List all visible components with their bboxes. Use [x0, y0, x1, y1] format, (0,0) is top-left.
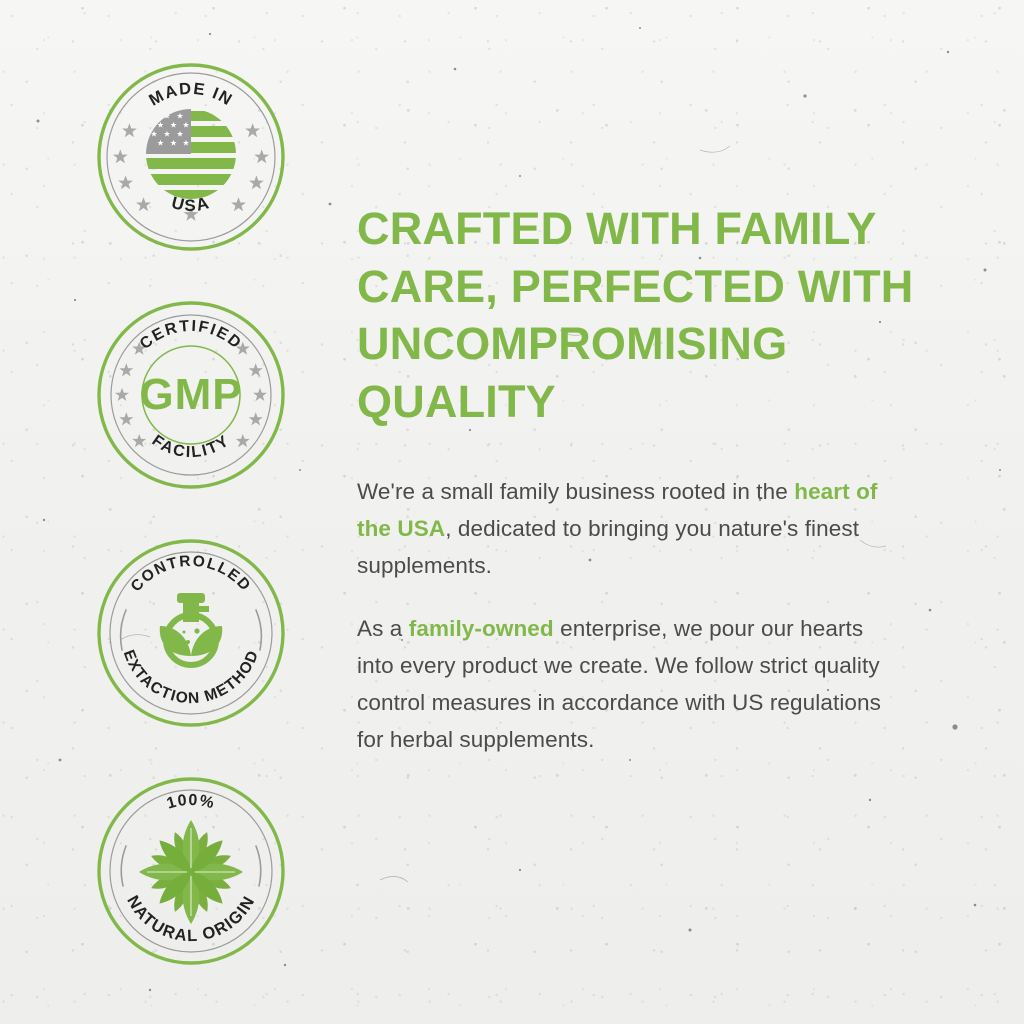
body-text: We're a small family business rooted in … — [357, 479, 794, 504]
badge-inner-ring — [110, 552, 272, 714]
page-title: Crafted with family care, perfected with… — [357, 200, 917, 430]
badge-gmp-certified-facility: GMP CERTIFIED FACILITY — [96, 300, 286, 490]
badge-bottom-label: FACILITY — [149, 432, 234, 461]
badge-bottom-label: EXTACTION METHOD — [120, 648, 263, 708]
content-column: Crafted with family care, perfected with… — [357, 200, 937, 759]
paragraph-quality: As a family-owned enterprise, we pour ou… — [357, 611, 882, 759]
usa-flag-circle-icon — [144, 107, 237, 200]
certification-badge-column: MADE IN USA — [96, 62, 286, 966]
body-text: As a — [357, 616, 409, 641]
badge-top-label: 100% — [165, 792, 217, 813]
badge-top-label: CONTROLLED — [128, 553, 255, 595]
promo-page: MADE IN USA — [0, 0, 1024, 1024]
badge-top-label: MADE IN — [146, 80, 236, 110]
paragraph-intro: We're a small family business rooted in … — [357, 474, 882, 585]
badge-top-label: CERTIFIED — [137, 318, 245, 353]
gmp-seal-icon: GMP — [139, 370, 242, 419]
badge-controlled-extraction-method: CONTROLLED EXTACTION METHOD — [96, 538, 286, 728]
emphasis-text: family-owned — [409, 616, 554, 641]
badge-natural-origin: 100% NATURAL ORIGIN — [96, 776, 286, 966]
flask-leaf-icon — [160, 593, 222, 665]
badge-made-in-usa: MADE IN USA — [96, 62, 286, 252]
badge-bottom-label: USA — [169, 193, 212, 215]
leaf-rosette-icon — [139, 820, 243, 924]
